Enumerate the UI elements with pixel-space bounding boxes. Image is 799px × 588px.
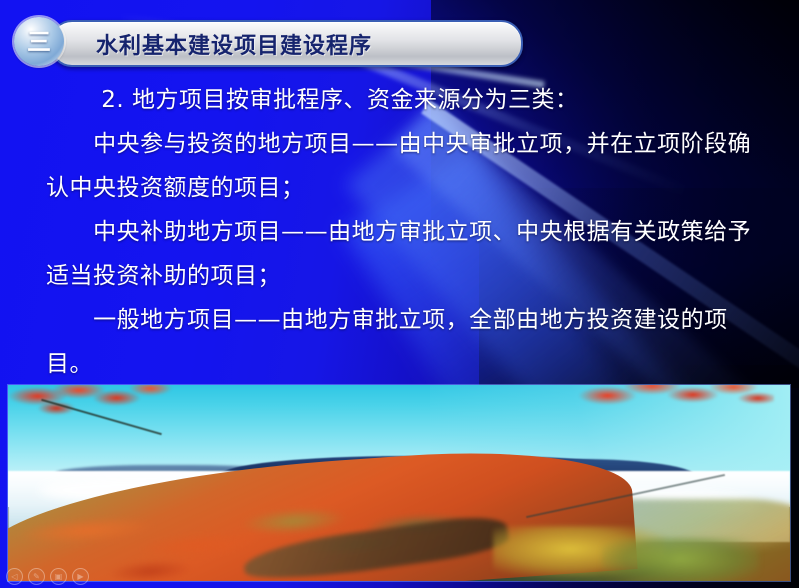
paragraph: 中央参与投资的地方项目——由中央审批立项，并在立项阶段确认中央投资额度的项目； bbox=[46, 122, 752, 210]
previous-slide-button[interactable]: ◁ bbox=[6, 568, 23, 585]
slide-body: 2. 地方项目按审批程序、资金来源分为三类： 中央参与投资的地方项目——由中央审… bbox=[46, 78, 752, 386]
slideshow-button[interactable]: ▶ bbox=[72, 568, 89, 585]
page-title: 水利基本建设项目建设程序 bbox=[96, 28, 372, 60]
paragraph: 一般地方项目——由地方审批立项，全部由地方投资建设的项目。 bbox=[46, 298, 752, 386]
section-number-glyph: 三 bbox=[27, 30, 51, 54]
title-pill: 水利基本建设项目建设程序 bbox=[50, 20, 523, 67]
maple-branch-right-icon bbox=[571, 385, 774, 418]
autumn-mountain-photo bbox=[8, 385, 790, 581]
slide-title-bar: 水利基本建设项目建设程序 三 bbox=[14, 17, 519, 66]
menu-button[interactable]: ▣ bbox=[50, 568, 67, 585]
presentation-slide: 水利基本建设项目建设程序 三 2. 地方项目按审批程序、资金来源分为三类： 中央… bbox=[0, 0, 799, 588]
section-number-badge: 三 bbox=[14, 17, 64, 66]
pointer-button[interactable]: ✎ bbox=[28, 568, 45, 585]
slide-photo bbox=[8, 385, 790, 581]
green-bush bbox=[602, 538, 758, 581]
slideshow-controls[interactable]: ◁ ✎ ▣ ▶ bbox=[6, 568, 89, 585]
paragraph: 中央补助地方项目——由地方审批立项、中央根据有关政策给予适当投资补助的项目； bbox=[46, 210, 752, 298]
paragraph: 2. 地方项目按审批程序、资金来源分为三类： bbox=[46, 78, 752, 122]
